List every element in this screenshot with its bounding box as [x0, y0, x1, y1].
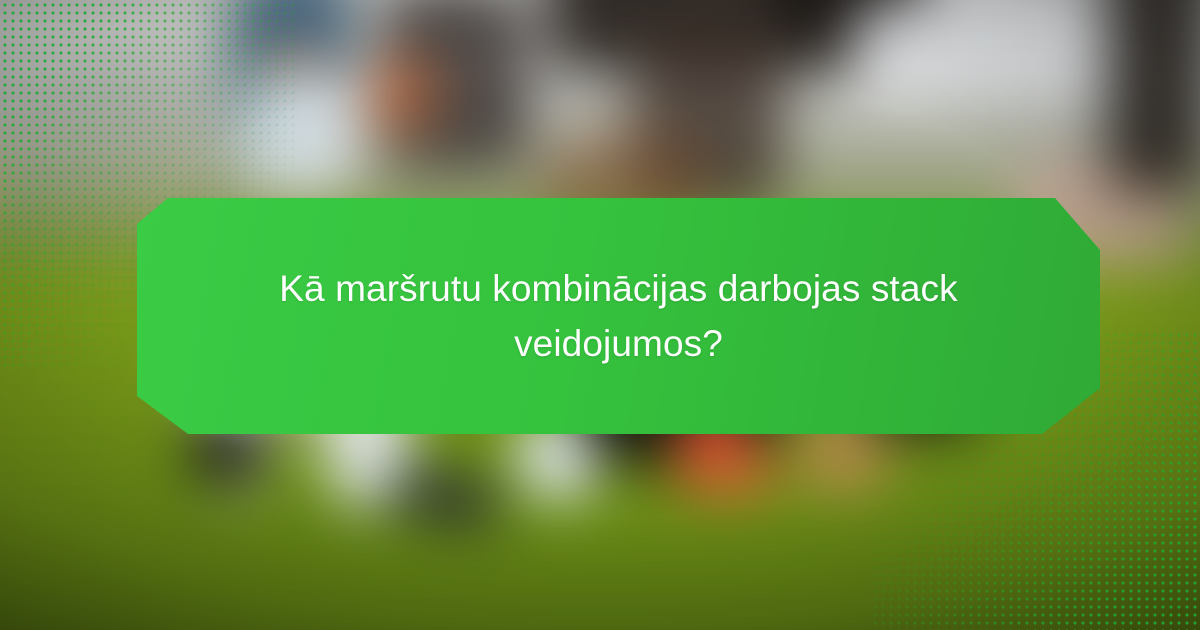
background-person-orange — [362, 50, 438, 136]
headline-banner: Kā maršrutu kombinācijas darbojas stack … — [137, 198, 1100, 434]
headline-text: Kā maršrutu kombinācijas darbojas stack … — [259, 261, 979, 372]
stadium-wall-right — [854, 2, 1135, 99]
background-blob-far-right — [1108, 0, 1200, 191]
background-person-shirt — [244, 72, 357, 191]
share-card-canvas: Kā maršrutu kombinācijas darbojas stack … — [0, 0, 1200, 630]
